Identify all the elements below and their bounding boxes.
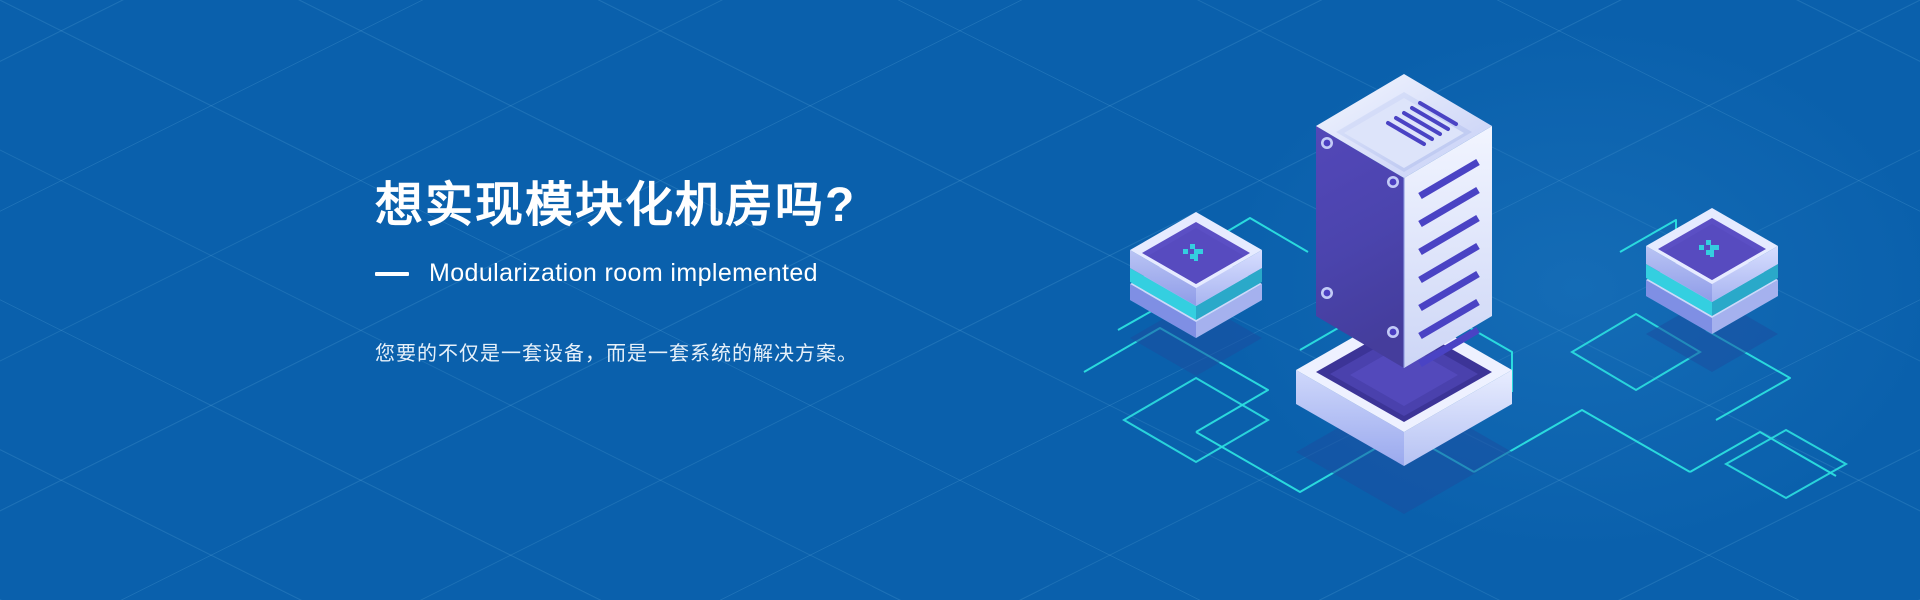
hero-banner: 想实现模块化机房吗? Modularization room implement…	[0, 0, 1920, 600]
hero-illustration	[1000, 0, 1920, 600]
chip-module-left	[1130, 212, 1262, 338]
dash-accent-icon	[375, 272, 409, 276]
page-subtitle: Modularization room implemented	[429, 259, 818, 288]
server-rack	[1316, 74, 1492, 368]
